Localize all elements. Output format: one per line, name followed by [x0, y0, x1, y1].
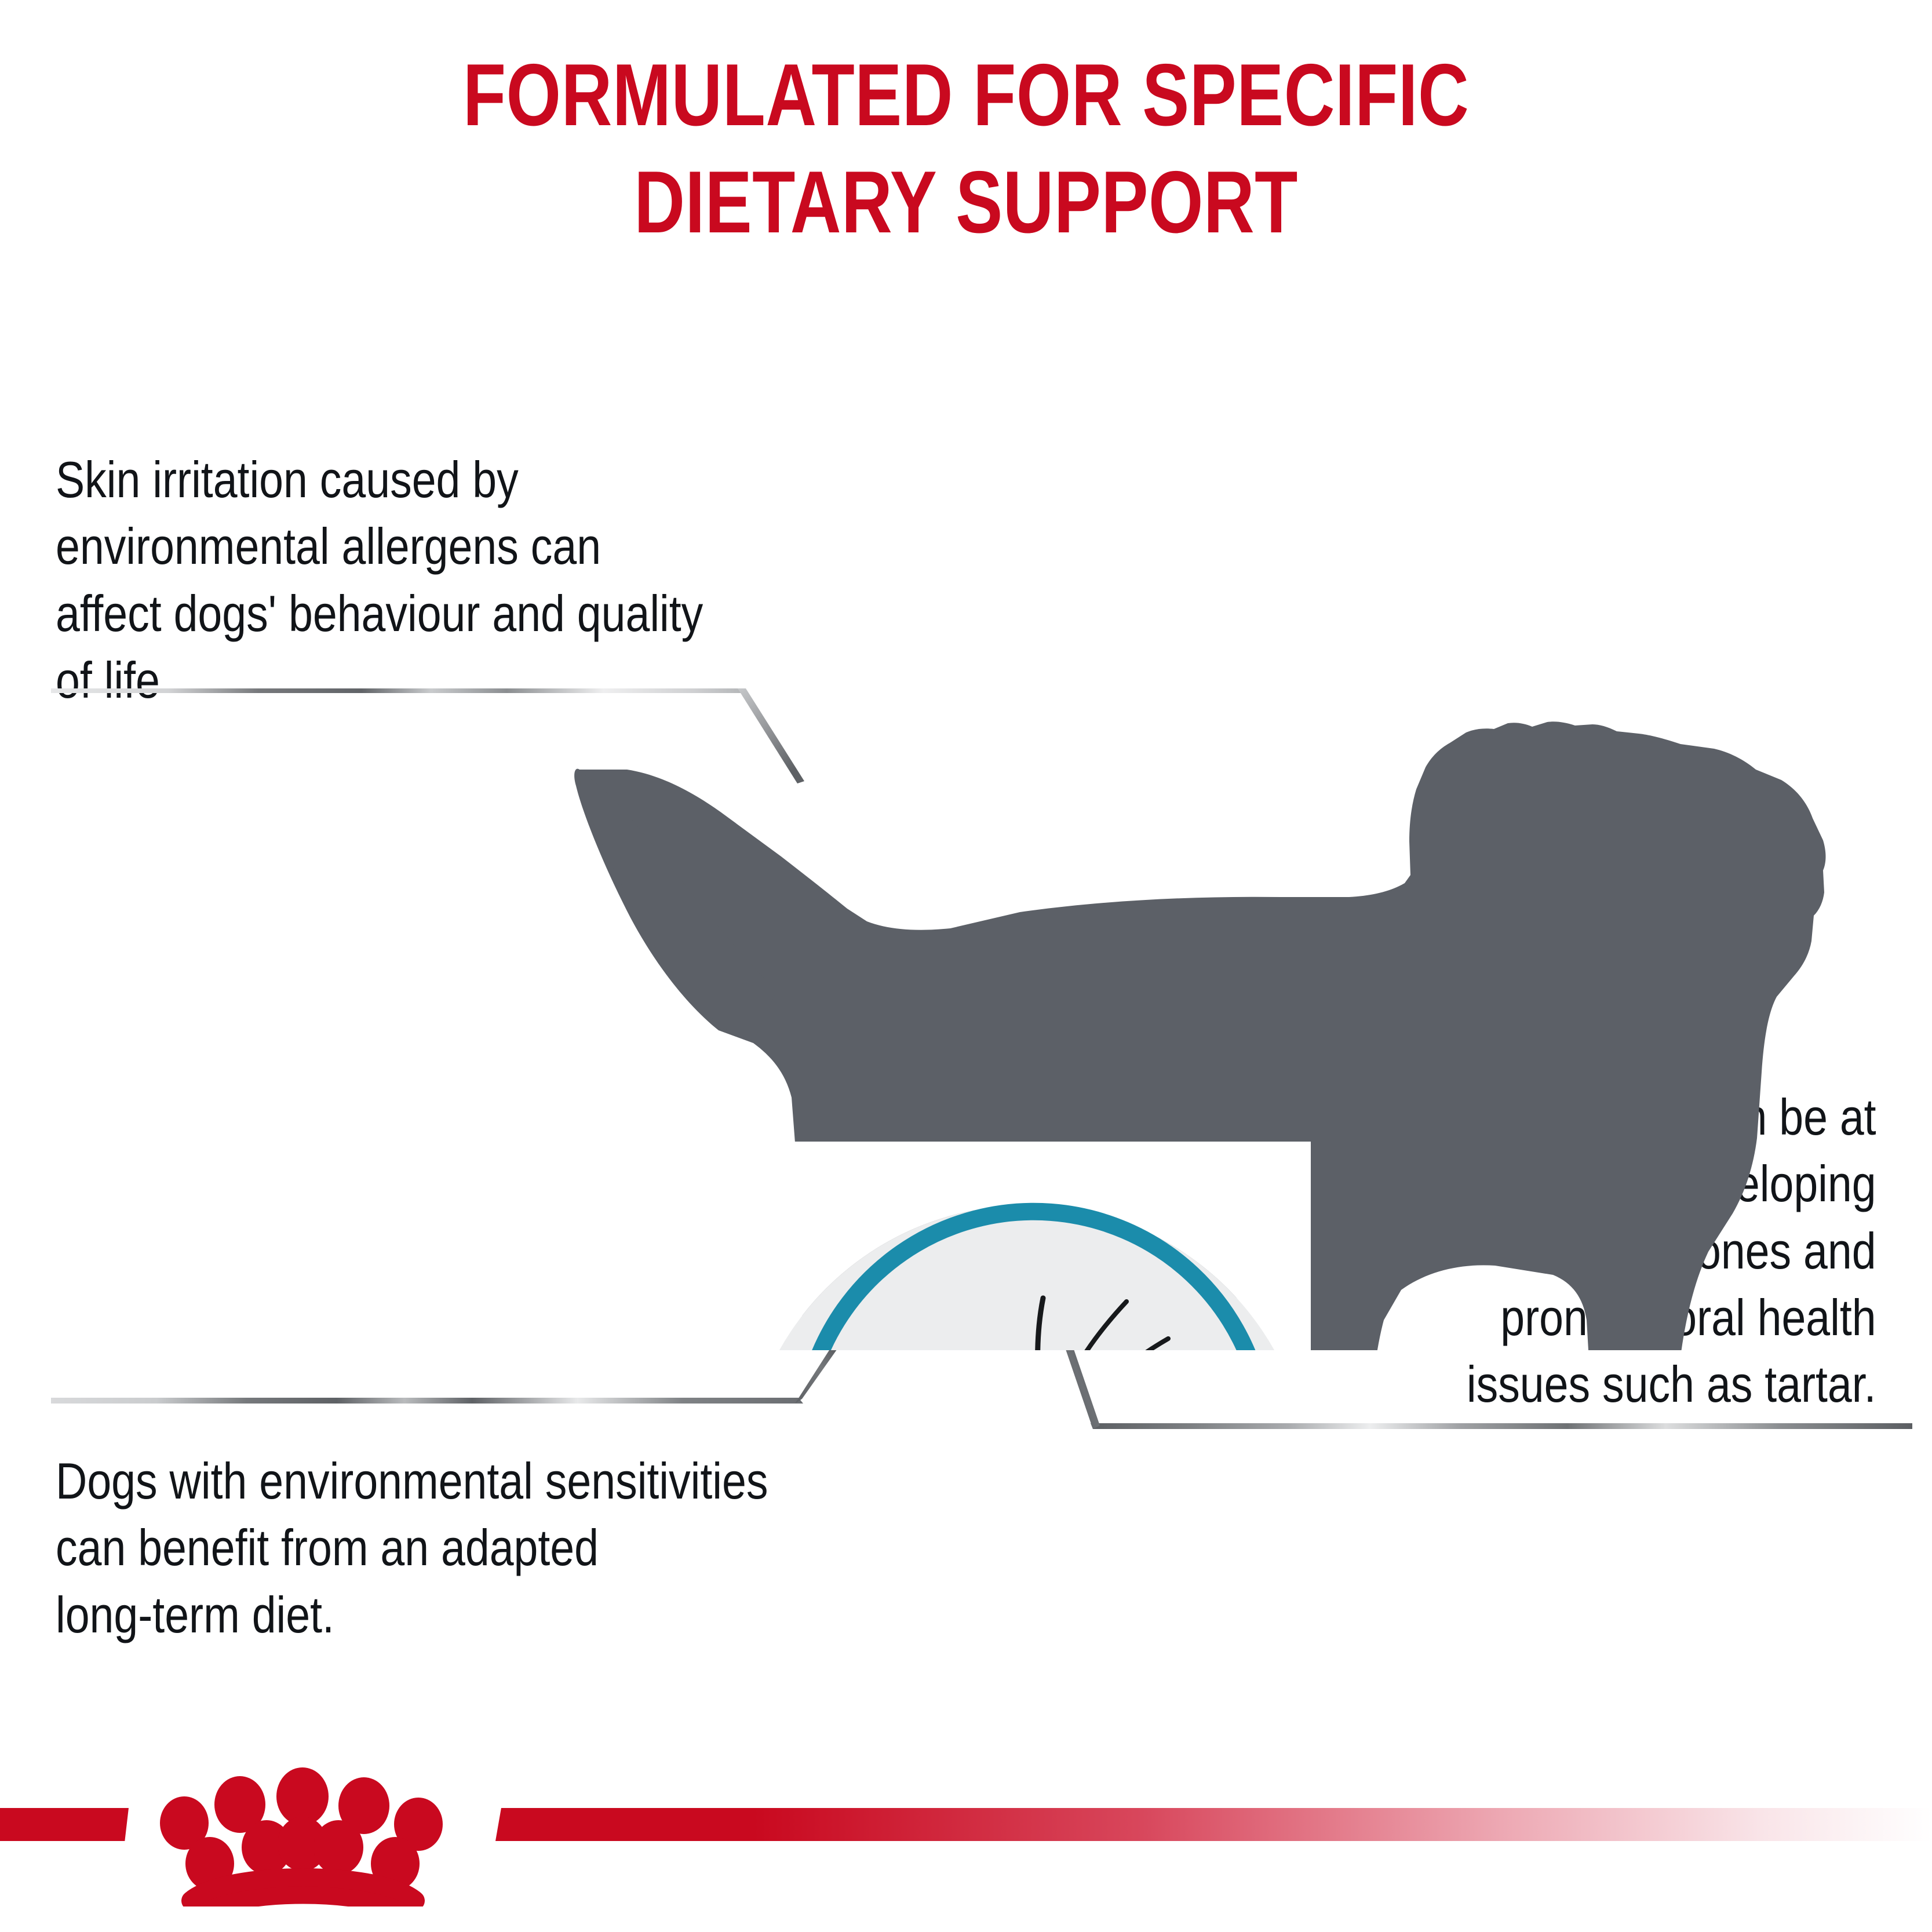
callout-line: can benefit from an adapted — [56, 1514, 768, 1581]
brand-rule-right — [495, 1808, 1932, 1841]
callout-line: affect dogs' behaviour and quality — [56, 580, 703, 647]
callout-line: Skin irritation caused by — [56, 446, 703, 513]
page-title-line-2: DIETARY SUPPORT — [193, 149, 1738, 256]
callout-line: environmental allergens can — [56, 513, 703, 579]
callout-long-term-diet: Dogs with environmental sensitivities ca… — [56, 1448, 768, 1648]
dog-skin-illustration — [0, 666, 1932, 1350]
callout-line: Dogs with environmental sensitivities — [56, 1448, 768, 1514]
page-title: FORMULATED FOR SPECIFIC DIETARY SUPPORT — [193, 42, 1738, 257]
page-title-line-1: FORMULATED FOR SPECIFIC — [193, 42, 1738, 149]
callout-line: long-term diet. — [56, 1581, 768, 1648]
brand-bar — [0, 1762, 1932, 1932]
royal-canin-crown-logo — [129, 1762, 500, 1909]
brand-rule-left — [0, 1808, 129, 1841]
